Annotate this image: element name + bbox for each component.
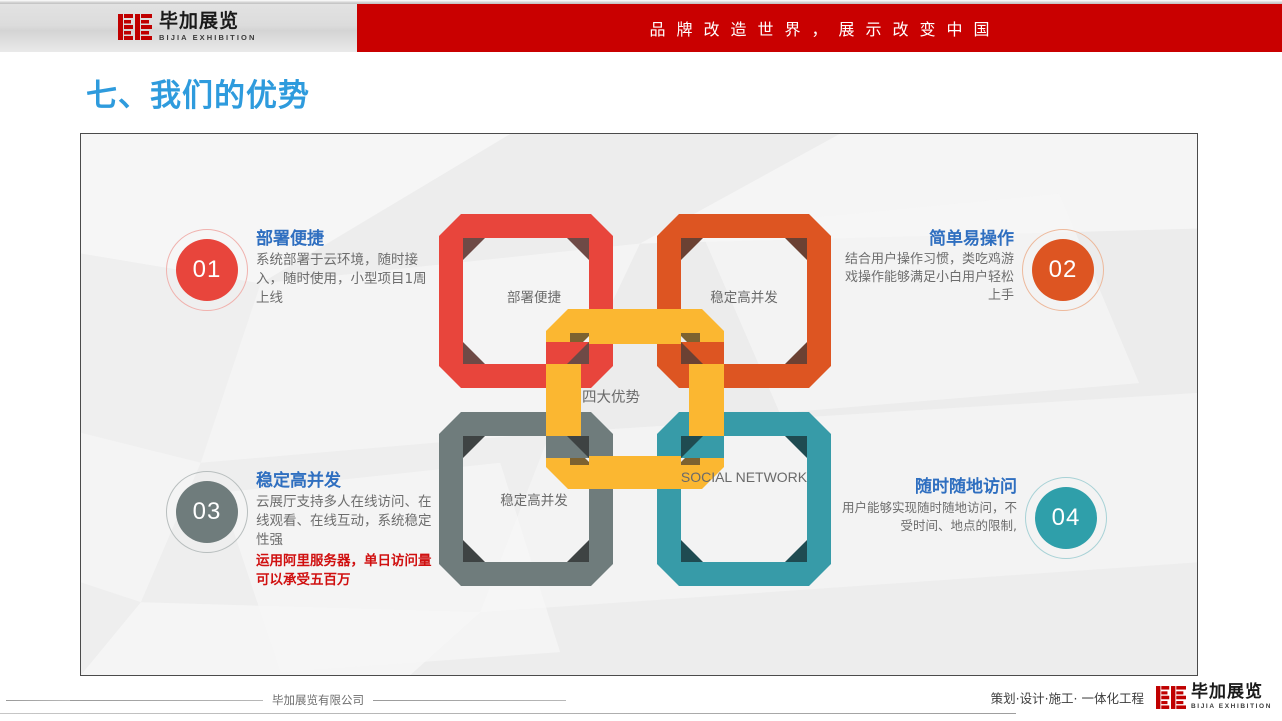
four-advantages-diagram: 部署便捷 稳定高并发 稳定高并发 SOCIAL NETWORK 四大优势 <box>439 214 831 586</box>
advantage-note-03: 运用阿里服务器，单日访问量可以承受五百万 <box>256 552 438 590</box>
footer-logo: 毕加展览 BIJIA EXHIBITION <box>1156 684 1272 711</box>
ring-label-top-right: 稳定高并发 <box>671 286 817 306</box>
slide-root: 品牌改造世界，展示改变中国 <box>0 0 1282 721</box>
badge-ring-02 <box>1022 229 1104 311</box>
advantage-heading-03: 稳定高并发 <box>256 471 438 492</box>
ring-label-bottom-left: 稳定高并发 <box>461 489 607 509</box>
footer-rule-left <box>6 700 70 701</box>
footer-logo-en: BIJIA EXHIBITION <box>1191 704 1272 711</box>
advantage-badge-02: 02 <box>1022 229 1104 311</box>
ring-label-bottom-right: SOCIAL NETWORK <box>679 469 809 487</box>
ring-label-top-left: 部署便捷 <box>469 286 599 306</box>
content-panel: 部署便捷 稳定高并发 稳定高并发 SOCIAL NETWORK 四大优势 01 … <box>80 133 1198 676</box>
header-logo-en: BIJIA EXHIBITION <box>159 34 257 42</box>
badge-ring-01 <box>166 229 248 311</box>
bijia-logo-icon <box>118 14 152 40</box>
advantage-block-03: 03 稳定高并发 云展厅支持多人在线访问、在线观看、在线互动，系统稳定性强 运用… <box>166 471 438 590</box>
footer-brand: 策划·设计·施工· 一体化工程 <box>991 684 1272 711</box>
footer-rule-mid <box>70 700 263 701</box>
header-slogan: 品牌改造世界，展示改变中国 <box>638 16 1000 40</box>
advantage-heading-04: 随时随地访问 <box>839 477 1017 498</box>
advantage-body-02: 结合用户操作习惯，类吃鸡游戏操作能够满足小白用户轻松上手 <box>836 251 1014 305</box>
advantage-heading-01: 部署便捷 <box>256 229 438 250</box>
advantage-block-01: 01 部署便捷 系统部署于云环境，随时接入，随时使用，小型项目1周上线 <box>166 229 438 311</box>
page-title: 七、我们的优势 <box>86 70 310 115</box>
advantage-badge-01: 01 <box>166 229 248 311</box>
advantage-heading-02: 简单易操作 <box>836 229 1014 250</box>
slide-header: 品牌改造世界，展示改变中国 <box>0 0 1282 52</box>
header-logo: 毕加展览 BIJIA EXHIBITION <box>118 12 257 42</box>
footer-rule-right <box>373 700 566 701</box>
advantage-text-03: 稳定高并发 云展厅支持多人在线访问、在线观看、在线互动，系统稳定性强 运用阿里服… <box>256 471 438 590</box>
advantage-block-02: 简单易操作 结合用户操作习惯，类吃鸡游戏操作能够满足小白用户轻松上手 02 <box>836 229 1104 311</box>
header-logo-words: 毕加展览 BIJIA EXHIBITION <box>159 12 257 42</box>
badge-ring-04 <box>1025 477 1107 559</box>
header-red-banner: 品牌改造世界，展示改变中国 <box>357 4 1282 52</box>
advantage-body-03: 云展厅支持多人在线访问、在线观看、在线互动，系统稳定性强 <box>256 493 438 549</box>
advantage-badge-04: 04 <box>1025 477 1107 559</box>
bijia-logo-icon-footer <box>1156 686 1186 709</box>
footer-logo-cn: 毕加展览 <box>1191 684 1272 701</box>
advantage-block-04: 随时随地访问 用户能够实现随时随地访问，不受时间、地点的限制, 04 <box>839 477 1107 559</box>
advantage-text-01: 部署便捷 系统部署于云环境，随时接入，随时使用，小型项目1周上线 <box>256 229 438 307</box>
header-logo-cn: 毕加展览 <box>159 12 257 31</box>
advantage-badge-03: 03 <box>166 471 248 553</box>
footer-logo-words: 毕加展览 BIJIA EXHIBITION <box>1191 684 1272 711</box>
advantage-body-01: 系统部署于云环境，随时接入，随时使用，小型项目1周上线 <box>256 251 438 307</box>
diagram-center-label: 四大优势 <box>582 386 640 407</box>
badge-ring-03 <box>166 471 248 553</box>
footer-company-line: 毕加展览有限公司 <box>6 692 566 708</box>
advantage-body-04: 用户能够实现随时随地访问，不受时间、地点的限制, <box>839 499 1017 534</box>
advantage-text-04: 随时随地访问 用户能够实现随时随地访问，不受时间、地点的限制, <box>839 477 1017 534</box>
footer-company-name: 毕加展览有限公司 <box>263 692 373 708</box>
footer-bottom-rule <box>0 713 1016 714</box>
footer-services: 策划·设计·施工· 一体化工程 <box>991 688 1144 707</box>
advantage-text-02: 简单易操作 结合用户操作习惯，类吃鸡游戏操作能够满足小白用户轻松上手 <box>836 229 1014 305</box>
